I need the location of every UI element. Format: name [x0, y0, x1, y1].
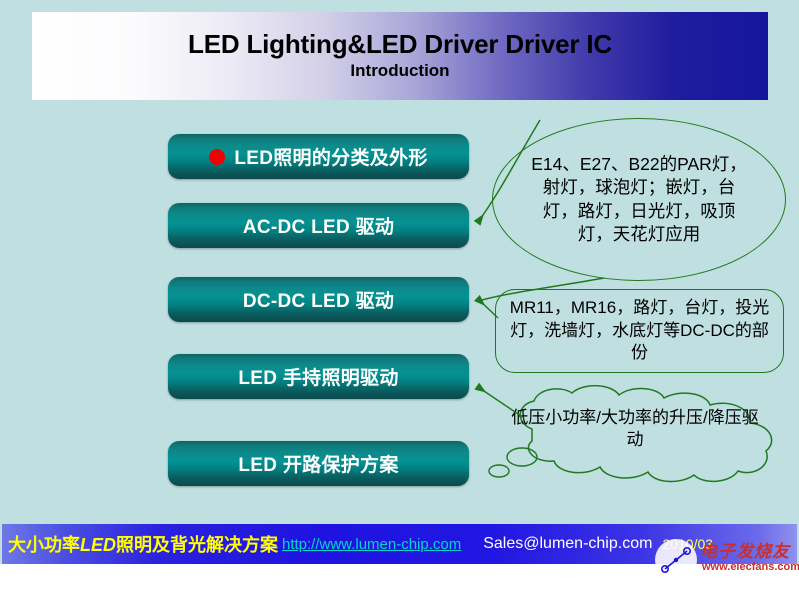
- menu-button-label: AC-DC LED 驱动: [243, 212, 394, 239]
- footer-white-strip: [0, 564, 799, 591]
- callout-ellipse-text: E14、E27、B22的PAR灯，射灯，球泡灯；嵌灯，台灯，路灯，日光灯，吸顶灯…: [530, 153, 748, 245]
- slide-header: LED Lighting&LED Driver Driver IC Introd…: [32, 12, 768, 100]
- menu-button-led-open-circuit-protection[interactable]: LED 开路保护方案: [168, 441, 469, 486]
- callout-ellipse: E14、E27、B22的PAR灯，射灯，球泡灯；嵌灯，台灯，路灯，日光灯，吸顶灯…: [492, 118, 786, 281]
- footer-website-link[interactable]: http://www.lumen-chip.com: [282, 536, 461, 553]
- footer-tagline-part2: 照明及背光解决方案: [116, 535, 278, 555]
- menu-button-dc-dc-led-driver[interactable]: DC-DC LED 驱动: [168, 277, 469, 322]
- footer-date: 2010/03: [662, 536, 713, 552]
- callout-cloud: 低压小功率/大功率的升压/降压驱动: [472, 385, 792, 488]
- callout-rounded-rectangle: MR11，MR16，路灯，台灯，投光灯，洗墙灯，水底灯等DC-DC的部份: [495, 289, 784, 373]
- page-title: LED Lighting&LED Driver Driver IC: [188, 30, 612, 59]
- red-dot-icon: [209, 149, 225, 165]
- menu-button-label: DC-DC LED 驱动: [243, 286, 394, 313]
- footer-tagline-em: LED: [80, 535, 116, 555]
- footer-email: Sales@lumen-chip.com: [483, 535, 652, 553]
- menu-button-ac-dc-led-driver[interactable]: AC-DC LED 驱动: [168, 203, 469, 248]
- slide-canvas: LED Lighting&LED Driver Driver IC Introd…: [0, 0, 799, 591]
- slide-footer: 大小功率LED照明及背光解决方案 http://www.lumen-chip.c…: [2, 524, 797, 564]
- menu-button-led-handheld-driver[interactable]: LED 手持照明驱动: [168, 354, 469, 399]
- callout-cloud-text: 低压小功率/大功率的升压/降压驱动: [510, 407, 760, 452]
- footer-tagline-part1: 大小功率: [8, 535, 80, 555]
- menu-button-led-classification[interactable]: LED照明的分类及外形: [168, 134, 469, 179]
- menu-button-label: LED照明的分类及外形: [234, 143, 427, 170]
- menu-button-label: LED 手持照明驱动: [238, 363, 398, 390]
- menu-button-label: LED 开路保护方案: [238, 450, 398, 477]
- footer-tagline: 大小功率LED照明及背光解决方案: [8, 531, 278, 557]
- callout-rounded-text: MR11，MR16，路灯，台灯，投光灯，洗墙灯，水底灯等DC-DC的部份: [506, 297, 774, 364]
- page-subtitle: Introduction: [350, 61, 449, 81]
